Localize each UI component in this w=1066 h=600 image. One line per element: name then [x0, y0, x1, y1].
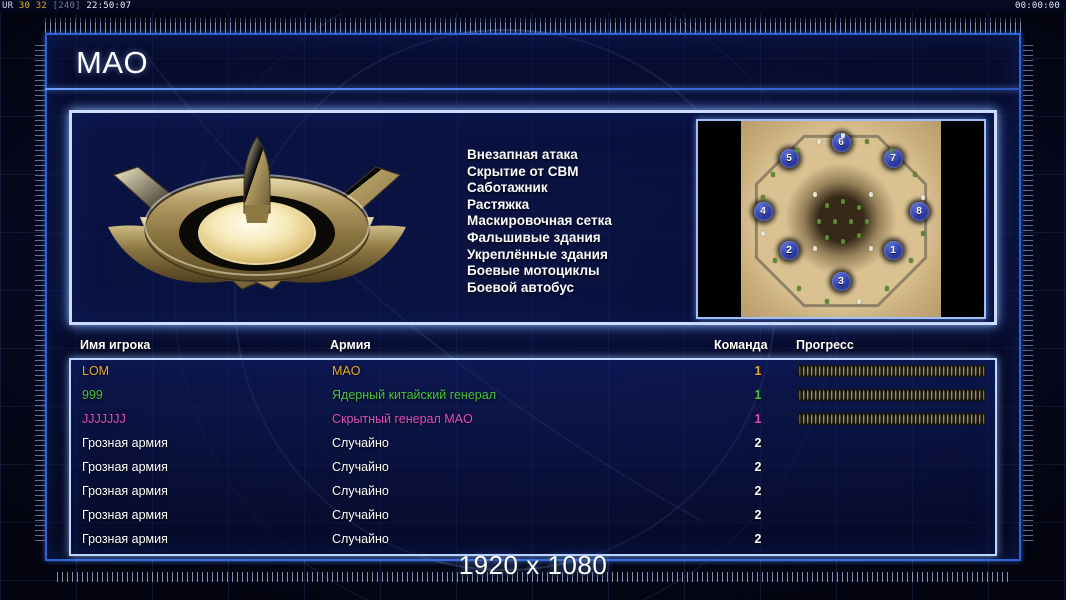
map-prop-center: [869, 192, 873, 197]
player-team: 2: [747, 508, 769, 522]
progress-bar-fill: [798, 413, 986, 425]
column-header-progress: Прогресс: [796, 338, 854, 352]
player-progress-bar: [798, 365, 986, 377]
player-table: LOMMAO1999Ядерный китайский генерал1JJJJ…: [69, 358, 997, 556]
player-progress-bar: [798, 413, 986, 425]
table-row[interactable]: Грозная армияСлучайно2: [71, 528, 995, 552]
map-prop-center: [825, 235, 829, 240]
table-row[interactable]: 999Ядерный китайский генерал1: [71, 384, 995, 408]
map-spawn-point-1[interactable]: 1: [884, 241, 903, 260]
player-army: Ядерный китайский генерал: [332, 388, 496, 402]
status-value-1: 30: [19, 1, 30, 11]
table-row[interactable]: Грозная армияСлучайно2: [71, 480, 995, 504]
player-name: LOM: [82, 364, 109, 378]
player-name: Грозная армия: [82, 460, 168, 474]
player-team: 1: [747, 388, 769, 402]
map-prop-center: [825, 203, 829, 208]
map-prop-center: [841, 239, 845, 244]
map-prop-center: [857, 233, 861, 238]
map-prop: [913, 172, 917, 177]
player-table-header: Имя игрока Армия Команда Прогресс: [69, 338, 997, 356]
column-header-army: Армия: [330, 338, 371, 352]
map-prop: [865, 139, 869, 144]
map-prop: [761, 231, 765, 236]
player-name: JJJJJJJ: [82, 412, 126, 426]
player-army: Скрытный генерал MAO: [332, 412, 473, 426]
player-name: Грозная армия: [82, 508, 168, 522]
map-prop-center: [849, 219, 853, 224]
progress-bar-fill: [798, 365, 986, 377]
map-image: 12345678: [741, 121, 941, 317]
status-right-clock: 00:00:00: [1015, 0, 1060, 13]
map-prop: [817, 139, 821, 144]
map-prop-center: [865, 219, 869, 224]
player-team: 2: [747, 436, 769, 450]
map-prop: [909, 258, 913, 263]
column-header-team: Команда: [714, 338, 768, 352]
map-prop: [771, 172, 775, 177]
player-team: 1: [747, 412, 769, 426]
player-name: Грозная армия: [82, 436, 168, 450]
map-prop: [841, 133, 845, 138]
map-prop-center: [813, 192, 817, 197]
player-team: 2: [747, 484, 769, 498]
ruler-top: [45, 23, 1021, 33]
player-army: Случайно: [332, 436, 389, 450]
player-team: 2: [747, 460, 769, 474]
ruler-right: [1023, 45, 1033, 545]
column-header-name: Имя игрока: [80, 338, 150, 352]
player-army: Случайно: [332, 484, 389, 498]
page-title: MAO: [76, 45, 148, 81]
player-team: 2: [747, 532, 769, 546]
resolution-label: 1920 x 1080: [0, 550, 1066, 581]
table-row[interactable]: JJJJJJJСкрытный генерал MAO1: [71, 408, 995, 432]
map-spawn-point-7[interactable]: 7: [884, 149, 903, 168]
player-army: Случайно: [332, 508, 389, 522]
player-army: Случайно: [332, 460, 389, 474]
status-value-2: 32: [36, 1, 47, 11]
map-prop: [797, 286, 801, 291]
player-army: Случайно: [332, 532, 389, 546]
map-spawn-point-3[interactable]: 3: [832, 272, 851, 291]
map-spawn-point-2[interactable]: 2: [780, 241, 799, 260]
table-row[interactable]: LOMMAO1: [71, 360, 995, 384]
status-clock: 22:50:07: [86, 1, 131, 11]
table-row[interactable]: Грозная армияСлучайно2: [71, 456, 995, 480]
status-left: UR 30 32 [240] 22:50:07: [2, 0, 131, 13]
status-value-3: [240]: [53, 1, 81, 11]
player-name: 999: [82, 388, 103, 402]
ruler-left: [35, 45, 45, 545]
player-army: MAO: [332, 364, 360, 378]
faction-info-panel: Внезапная атака Скрытие от CBM Саботажни…: [69, 110, 997, 325]
map-spawn-point-4[interactable]: 4: [754, 202, 773, 221]
gla-faction-emblem-icon: [92, 125, 422, 315]
player-team: 1: [747, 364, 769, 378]
player-name: Грозная армия: [82, 484, 168, 498]
ruler-top-minor: [45, 18, 1021, 24]
screen-root: UR 30 32 [240] 22:50:07 00:00:00 MAO: [0, 0, 1066, 600]
top-status-bar: UR 30 32 [240] 22:50:07 00:00:00: [0, 0, 1066, 13]
map-prop-center: [857, 205, 861, 210]
table-row[interactable]: Грозная армияСлучайно2: [71, 432, 995, 456]
map-spawn-point-8[interactable]: 8: [910, 202, 929, 221]
status-ur-label: UR: [2, 1, 13, 11]
map-prop: [773, 258, 777, 263]
player-name: Грозная армия: [82, 532, 168, 546]
map-prop-center: [833, 219, 837, 224]
table-row[interactable]: Грозная армияСлучайно2: [71, 504, 995, 528]
player-table-body: LOMMAO1999Ядерный китайский генерал1JJJJ…: [71, 360, 995, 552]
map-preview[interactable]: 12345678: [696, 119, 986, 319]
map-prop: [921, 231, 925, 236]
map-prop: [885, 286, 889, 291]
map-prop-center: [817, 219, 821, 224]
player-progress-bar: [798, 389, 986, 401]
title-separator: [45, 88, 1021, 90]
progress-bar-fill: [798, 389, 986, 401]
